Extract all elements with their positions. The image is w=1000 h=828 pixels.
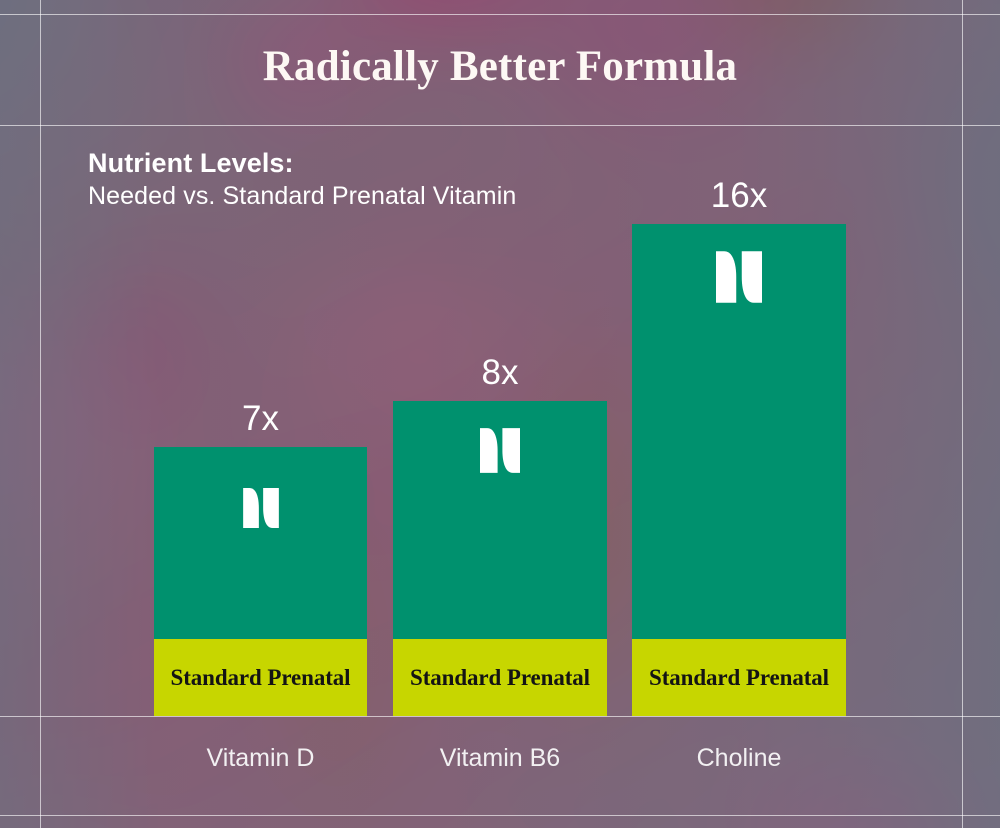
bar-brand-logo — [243, 488, 279, 533]
bar-needed[interactable]: 16xStandard PrenatalCholine — [632, 224, 846, 716]
bar-value-label: 16x — [711, 176, 767, 216]
bar-chart: 7xStandard PrenatalVitamin D8xStandard P… — [0, 0, 1000, 828]
bar-value-label: 8x — [482, 353, 519, 393]
bar-group: 16xStandard PrenatalCholine — [632, 224, 846, 716]
ritual-n-logo-icon — [480, 428, 520, 473]
bar-standard-prenatal[interactable]: Standard Prenatal — [154, 639, 367, 716]
bar-needed[interactable]: 8xStandard PrenatalVitamin B6 — [393, 401, 607, 716]
bar-standard-prenatal-label: Standard Prenatal — [171, 665, 351, 691]
bar-category-label: Vitamin B6 — [440, 744, 560, 773]
bar-group: 8xStandard PrenatalVitamin B6 — [393, 401, 607, 716]
bar-brand-logo — [716, 251, 762, 308]
bar-needed[interactable]: 7xStandard PrenatalVitamin D — [154, 447, 367, 716]
bar-group: 7xStandard PrenatalVitamin D — [154, 447, 367, 716]
bar-category-label: Vitamin D — [207, 744, 315, 773]
bar-standard-prenatal-label: Standard Prenatal — [649, 665, 829, 691]
ritual-n-logo-icon — [243, 488, 279, 528]
ritual-n-logo-icon — [716, 251, 762, 303]
bar-category-label: Choline — [697, 744, 782, 773]
bar-standard-prenatal[interactable]: Standard Prenatal — [632, 639, 846, 716]
infographic-canvas: Radically Better Formula Nutrient Levels… — [0, 0, 1000, 828]
bar-brand-logo — [480, 428, 520, 478]
bar-standard-prenatal[interactable]: Standard Prenatal — [393, 639, 607, 716]
bar-value-label: 7x — [242, 399, 279, 439]
bar-standard-prenatal-label: Standard Prenatal — [410, 665, 590, 691]
